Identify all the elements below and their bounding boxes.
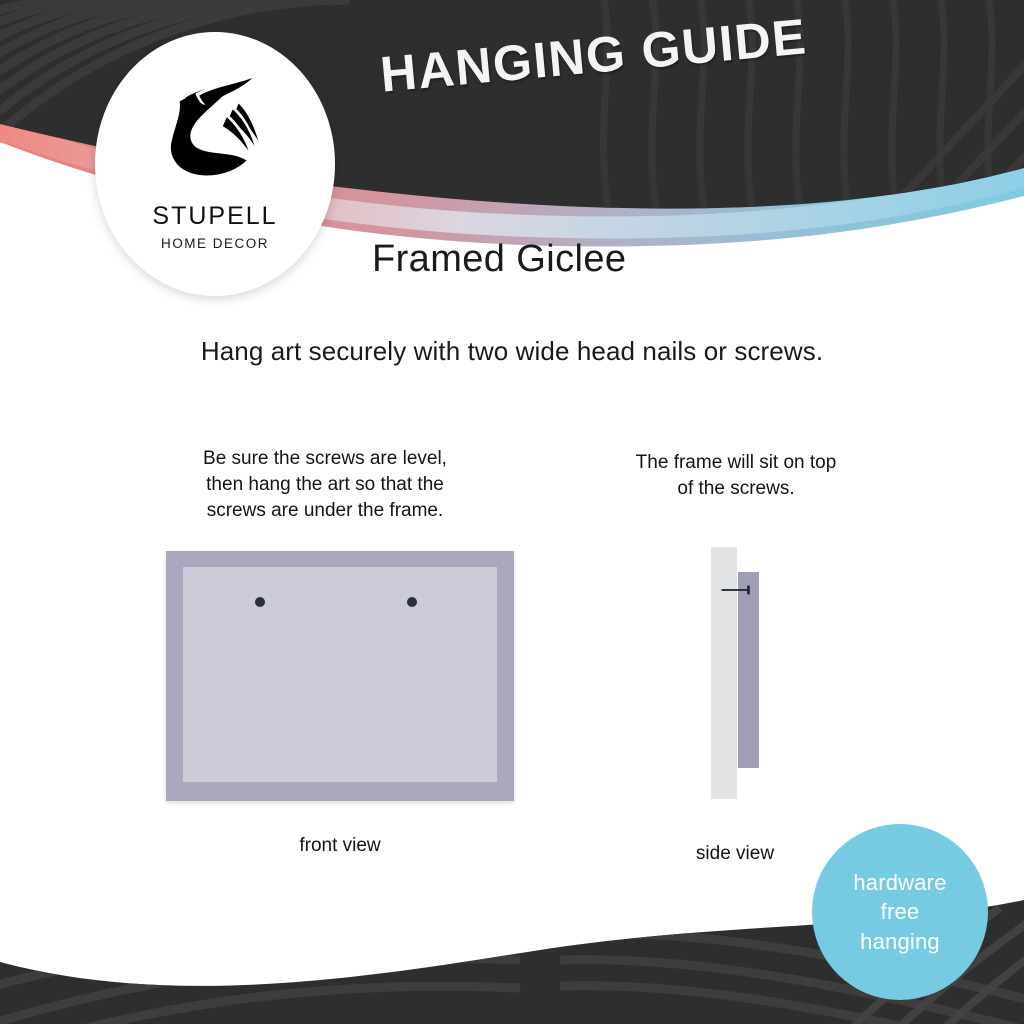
badge-line-2: free bbox=[881, 897, 920, 926]
nail-icon bbox=[719, 584, 753, 596]
side-view-frame bbox=[738, 572, 759, 768]
brand-logo-badge: STUPELL HOME DECOR bbox=[95, 32, 335, 296]
page-title: HANGING GUIDE bbox=[378, 7, 809, 104]
main-instruction-text: Hang art securely with two wide head nai… bbox=[0, 336, 1024, 367]
brand-wordmark: STUPELL bbox=[152, 204, 277, 229]
badge-line-1: hardware bbox=[853, 868, 946, 897]
brand-subwordmark: HOME DECOR bbox=[161, 237, 269, 251]
front-view-caption-line-1: Be sure the screws are level, bbox=[140, 446, 510, 472]
side-view-caption-line-1: The frame will sit on top bbox=[588, 450, 884, 476]
front-view-frame-diagram bbox=[166, 551, 514, 801]
hanging-guide-page: STUPELL HOME DECOR HANGING GUIDE Framed … bbox=[0, 0, 1024, 1024]
front-view-label: front view bbox=[190, 835, 490, 857]
hardware-free-hanging-badge: hardware free hanging bbox=[812, 824, 988, 1000]
badge-line-3: hanging bbox=[860, 927, 940, 956]
side-view-caption: The frame will sit on top of the screws. bbox=[588, 450, 884, 502]
screw-dot-left bbox=[255, 597, 265, 607]
screw-dot-right bbox=[407, 597, 417, 607]
stupell-swoosh-logo-icon bbox=[156, 70, 274, 192]
front-view-caption: Be sure the screws are level, then hang … bbox=[140, 446, 510, 525]
front-view-caption-line-2: then hang the art so that the bbox=[140, 472, 510, 498]
product-name: Framed Giclee bbox=[372, 238, 626, 281]
side-view-caption-line-2: of the screws. bbox=[588, 476, 884, 502]
front-view-frame-inner-panel bbox=[183, 567, 497, 782]
front-view-caption-line-3: screws are under the frame. bbox=[140, 498, 510, 524]
side-view-label: side view bbox=[635, 843, 835, 865]
